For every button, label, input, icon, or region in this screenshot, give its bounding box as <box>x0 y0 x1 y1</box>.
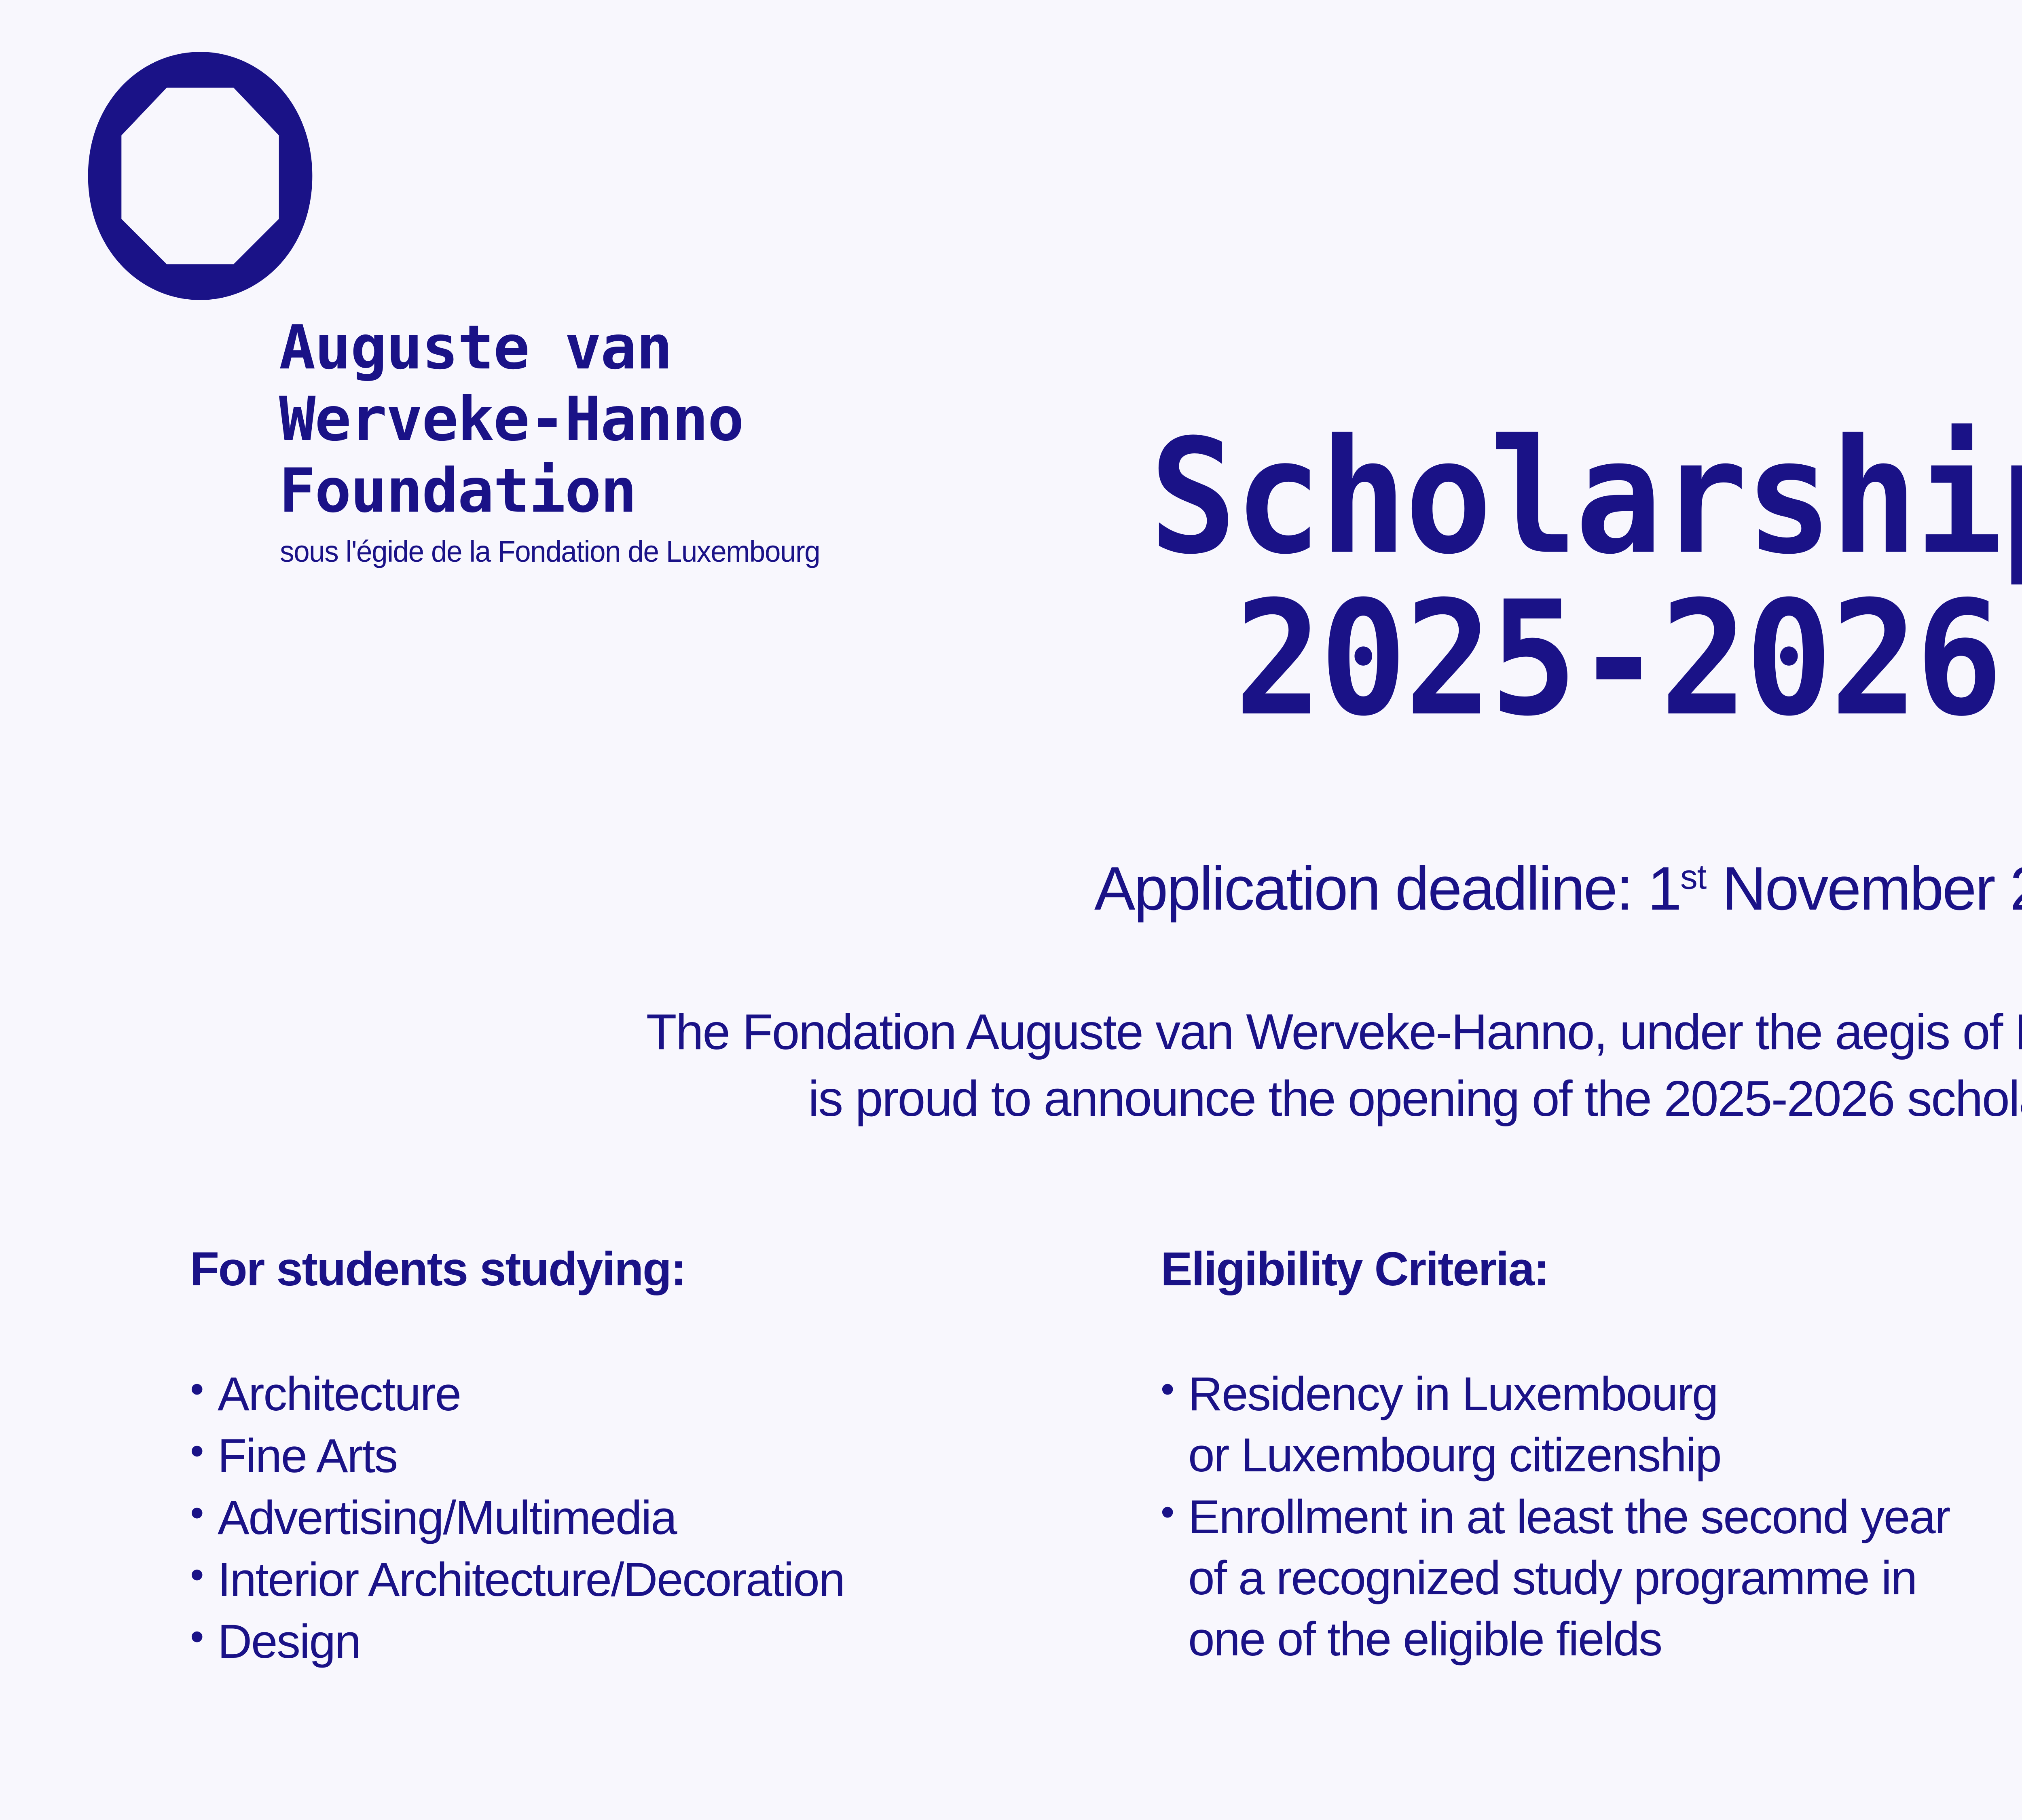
column-heading: Eligibility Criteria: <box>1161 1242 2022 1297</box>
column-list: Architecture Fine Arts Advertising/Multi… <box>190 1364 1161 1672</box>
column-eligibility-criteria: Eligibility Criteria: Residency in Luxem… <box>1161 1242 2022 1673</box>
list-item: Advertising/Multimedia <box>190 1488 1161 1549</box>
intro-paragraph: The Fondation Auguste van Werveke-Hanno,… <box>0 999 2022 1132</box>
deadline-prefix: Application deadline: 1 <box>1094 854 1680 923</box>
column-for-students-studying: For students studying: Architecture Fine… <box>190 1242 1161 1673</box>
deadline-suffix: November 2025 <box>1706 854 2022 923</box>
application-deadline: Application deadline: 1st November 2025 <box>0 853 2022 924</box>
page-title-line-2: 2025-2026 <box>129 582 2022 735</box>
column-heading: For students studying: <box>190 1242 1161 1297</box>
list-item: Architecture <box>190 1364 1161 1425</box>
list-item: Fine Arts <box>190 1426 1161 1487</box>
octagon-ring-icon <box>81 44 319 307</box>
list-item: Enrollment in at least the second year o… <box>1161 1487 2022 1670</box>
page-title-line-1: Scholarship <box>129 421 2022 574</box>
list-item: Residency in Luxembourg or Luxembourg ci… <box>1161 1364 2022 1486</box>
hero-title-block: Scholarship 2025-2026 <box>0 421 2022 736</box>
list-item: Design <box>190 1611 1161 1672</box>
column-list: Residency in Luxembourg or Luxembourg ci… <box>1161 1364 2022 1670</box>
criteria-columns: For students studying: Architecture Fine… <box>0 1242 2022 1673</box>
scholarship-poster: Auguste van Werveke-Hanno Foundation sou… <box>0 0 2022 1820</box>
list-item: Interior Architecture/Decoration <box>190 1549 1161 1610</box>
deadline-ordinal: st <box>1680 858 1706 896</box>
